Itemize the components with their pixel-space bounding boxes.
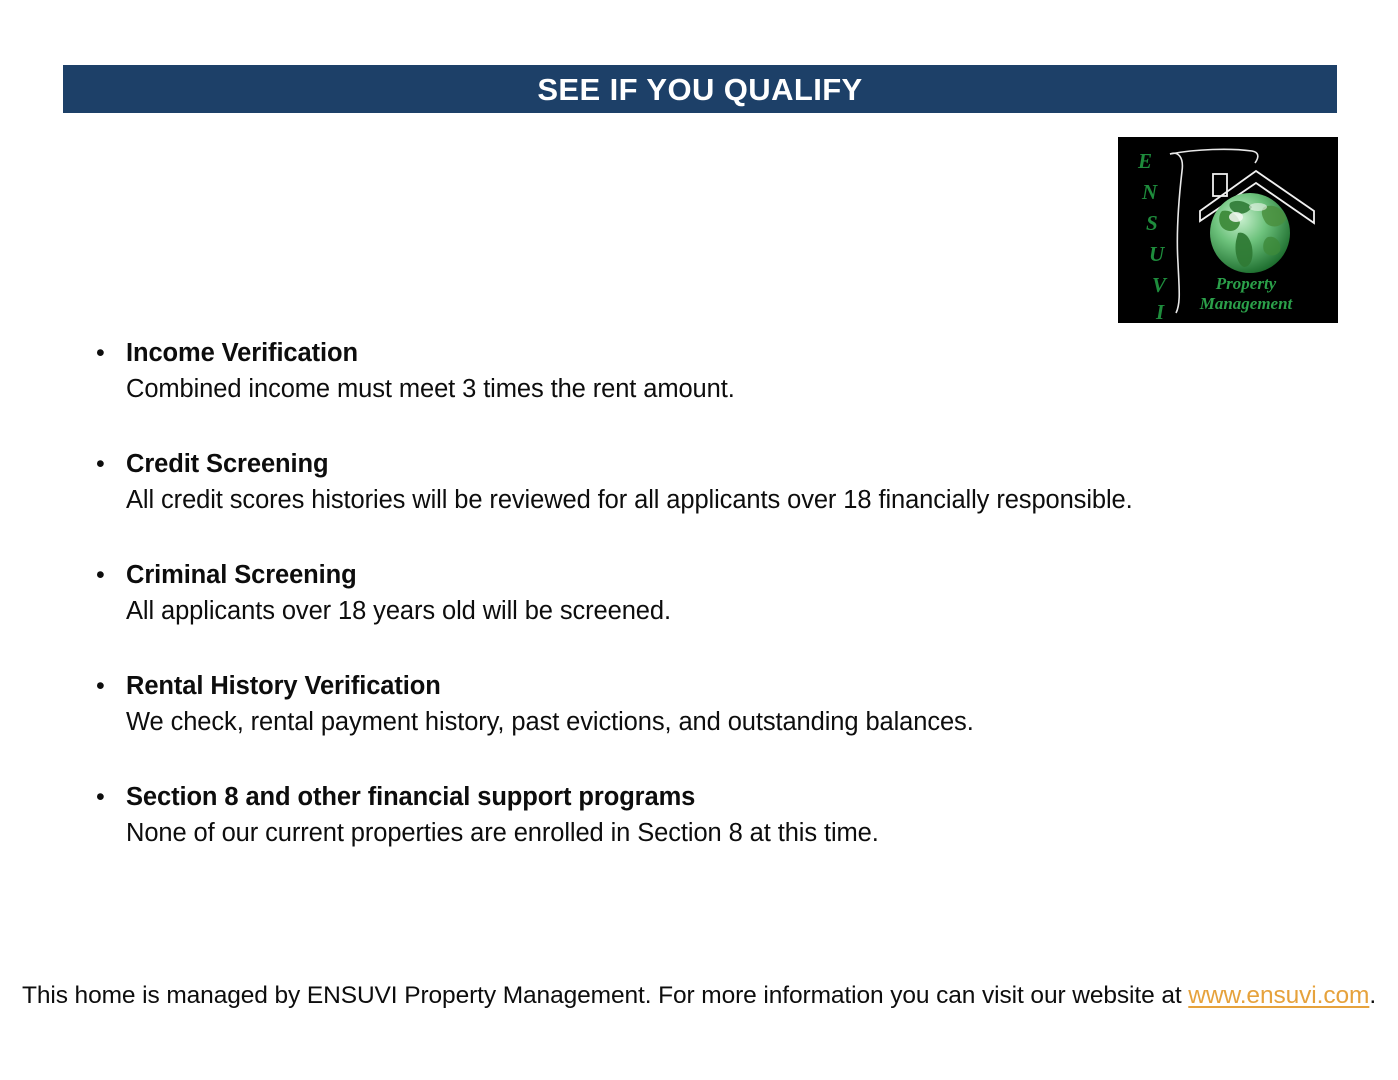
list-item: • Section 8 and other financial support … (96, 780, 1336, 852)
criterion-title: Income Verification (126, 336, 358, 370)
bullet-point-icon: • (96, 447, 126, 481)
list-item: • Credit Screening All credit scores his… (96, 447, 1336, 519)
bullet-point-icon: • (96, 336, 126, 370)
logo-tagline-line1: Property (1215, 274, 1277, 293)
bullet-heading-row: • Section 8 and other financial support … (96, 780, 1336, 814)
logo-letter-v: V (1152, 273, 1168, 297)
page-title: SEE IF YOU QUALIFY (537, 74, 862, 105)
criterion-description: All applicants over 18 years old will be… (126, 592, 1336, 630)
bullet-heading-row: • Rental History Verification (96, 669, 1336, 703)
list-item: • Income Verification Combined income mu… (96, 336, 1336, 408)
footer-note: This home is managed by ENSUVI Property … (0, 982, 1398, 1010)
logo-letter-u: U (1149, 242, 1166, 266)
list-item: • Rental History Verification We check, … (96, 669, 1336, 741)
slide-title-bar: SEE IF YOU QUALIFY (63, 65, 1337, 113)
criterion-title: Rental History Verification (126, 669, 441, 703)
logo-tagline-line2: Management (1199, 294, 1294, 313)
criterion-title: Criminal Screening (126, 558, 357, 592)
bullet-heading-row: • Income Verification (96, 336, 1336, 370)
footer-text-after: . (1369, 982, 1376, 1009)
website-link[interactable]: www.ensuvi.com (1188, 982, 1369, 1009)
bullet-heading-row: • Credit Screening (96, 447, 1336, 481)
logo-letter-i: I (1155, 300, 1165, 323)
logo-artwork: E N S U V I Property Management (1118, 137, 1338, 323)
logo-letter-s: S (1146, 211, 1158, 235)
criterion-description: None of our current properties are enrol… (126, 814, 1336, 852)
criterion-description: We check, rental payment history, past e… (126, 703, 1336, 741)
slide-canvas: SEE IF YOU QUALIFY (0, 0, 1398, 1080)
logo-letter-n: N (1141, 180, 1158, 204)
list-item: • Criminal Screening All applicants over… (96, 558, 1336, 630)
criterion-title: Section 8 and other financial support pr… (126, 780, 695, 814)
bullet-point-icon: • (96, 780, 126, 814)
bullet-point-icon: • (96, 669, 126, 703)
ensuvi-logo: E N S U V I Property Management (1118, 137, 1338, 323)
criterion-title: Credit Screening (126, 447, 328, 481)
criterion-description: All credit scores histories will be revi… (126, 481, 1336, 519)
footer-text-before: This home is managed by ENSUVI Property … (22, 982, 1188, 1009)
bullet-heading-row: • Criminal Screening (96, 558, 1336, 592)
criterion-description: Combined income must meet 3 times the re… (126, 370, 1336, 408)
qualification-criteria-list: • Income Verification Combined income mu… (96, 336, 1336, 852)
logo-letter-e: E (1137, 149, 1152, 173)
bullet-point-icon: • (96, 558, 126, 592)
